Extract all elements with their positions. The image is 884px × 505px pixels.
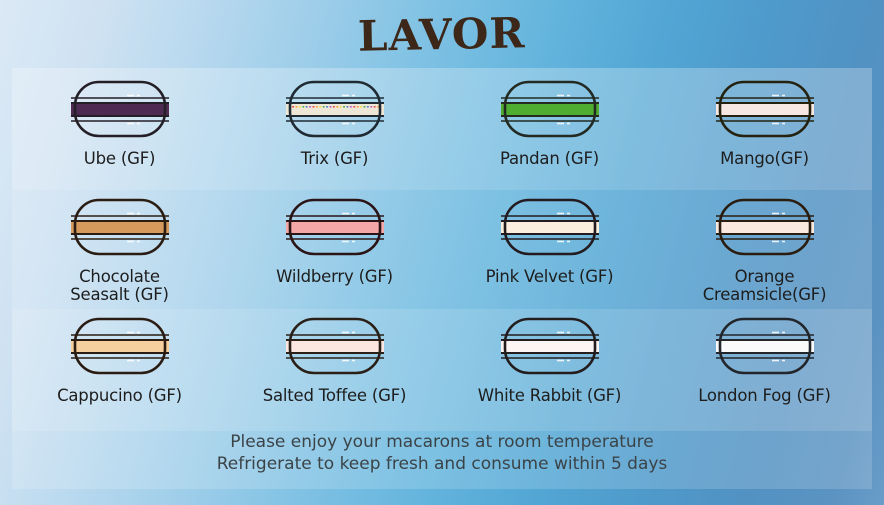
title-lettering: FLAVORS: [357, 8, 527, 60]
flavors-poster: FLAVORS Ube (GF)Trix (GF)Pandan (GF)Mang…: [0, 0, 884, 505]
flavor-item[interactable]: Chocolate Seasalt (GF): [12, 186, 227, 304]
flavor-label: London Fog (GF): [698, 387, 831, 405]
footer-line-1: Please enjoy your macarons at room tempe…: [12, 432, 872, 454]
flavor-item[interactable]: Orange Creamsicle(GF): [657, 186, 872, 304]
flavor-label: Salted Toffee (GF): [263, 387, 407, 405]
flavor-item[interactable]: Mango(GF): [657, 68, 872, 186]
page-title: FLAVORS: [0, 8, 884, 60]
macaron-icon: [280, 313, 390, 383]
macaron-icon: [495, 76, 605, 146]
flavor-label: Trix (GF): [301, 150, 368, 168]
flavor-label: Orange Creamsicle(GF): [703, 268, 827, 304]
macaron-icon: [65, 76, 175, 146]
flavor-item[interactable]: Pandan (GF): [442, 68, 657, 186]
flavor-label: Cappucino (GF): [57, 387, 182, 405]
macaron-icon: [280, 76, 390, 146]
flavor-label: Mango(GF): [720, 150, 809, 168]
flavor-item[interactable]: Salted Toffee (GF): [227, 305, 442, 423]
flavor-item[interactable]: Wildberry (GF): [227, 186, 442, 304]
flavor-label: Pink Velvet (GF): [486, 268, 614, 286]
macaron-icon: [495, 194, 605, 264]
macaron-icon: [495, 313, 605, 383]
flavor-label: Pandan (GF): [500, 150, 599, 168]
footer-line-2: Refrigerate to keep fresh and consume wi…: [12, 454, 872, 476]
flavor-item[interactable]: Pink Velvet (GF): [442, 186, 657, 304]
footer-note: Please enjoy your macarons at room tempe…: [12, 432, 872, 476]
flavor-label: Chocolate Seasalt (GF): [70, 268, 169, 304]
flavor-label: Ube (GF): [84, 150, 156, 168]
flavor-label: Wildberry (GF): [276, 268, 393, 286]
macaron-icon: [280, 194, 390, 264]
macaron-icon: [65, 194, 175, 264]
flavor-item[interactable]: Cappucino (GF): [12, 305, 227, 423]
macaron-icon: [710, 194, 820, 264]
flavor-item[interactable]: Trix (GF): [227, 68, 442, 186]
flavor-item[interactable]: White Rabbit (GF): [442, 305, 657, 423]
macaron-icon: [65, 313, 175, 383]
flavor-item[interactable]: Ube (GF): [12, 68, 227, 186]
flavor-item[interactable]: London Fog (GF): [657, 305, 872, 423]
flavor-label: White Rabbit (GF): [478, 387, 621, 405]
macaron-icon: [710, 76, 820, 146]
macaron-icon: [710, 313, 820, 383]
title-text: FLAVORS: [357, 8, 527, 60]
flavor-grid: Ube (GF)Trix (GF)Pandan (GF)Mango(GF)Cho…: [12, 68, 872, 423]
